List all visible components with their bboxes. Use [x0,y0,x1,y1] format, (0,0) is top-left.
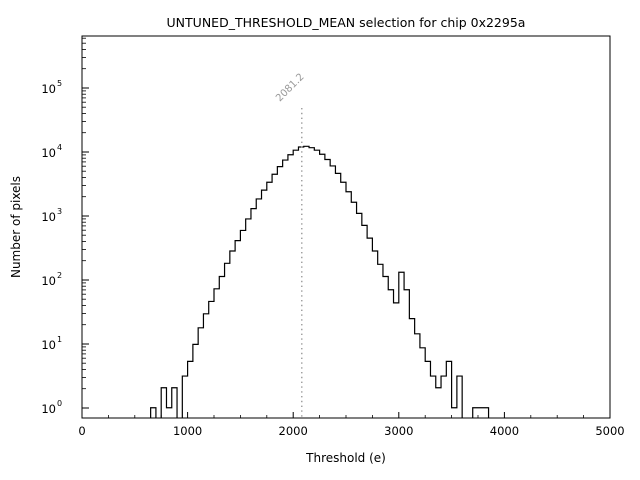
chart-canvas: UNTUNED_THRESHOLD_MEAN selection for chi… [0,0,640,480]
histogram-figure: UNTUNED_THRESHOLD_MEAN selection for chi… [0,0,640,480]
x-tick-label: 2000 [279,424,308,438]
y-tick-mantissa-1: 10 [41,338,56,352]
y-axis-label: Number of pixels [9,176,23,278]
x-tick-label: 4000 [490,424,519,438]
y-tick-exponent-3: 3 [57,207,62,216]
x-tick-label: 5000 [595,424,624,438]
x-tick-label: 0 [78,424,85,438]
y-tick-exponent-2: 2 [57,271,62,280]
y-tick-mantissa-0: 10 [41,402,56,416]
chart-title: UNTUNED_THRESHOLD_MEAN selection for chi… [167,15,526,30]
y-tick-exponent-0: 0 [57,399,62,408]
y-tick-exponent-4: 4 [57,143,62,152]
x-tick-label: 3000 [384,424,413,438]
y-tick-mantissa-3: 10 [41,210,56,224]
y-tick-mantissa-4: 10 [41,146,56,160]
y-tick-mantissa-5: 10 [41,82,56,96]
y-tick-exponent-1: 1 [57,335,62,344]
figure-background [0,0,640,480]
x-axis-label: Threshold (e) [305,451,386,465]
y-tick-exponent-5: 5 [57,79,62,88]
x-tick-label: 1000 [173,424,202,438]
y-tick-mantissa-2: 10 [41,274,56,288]
